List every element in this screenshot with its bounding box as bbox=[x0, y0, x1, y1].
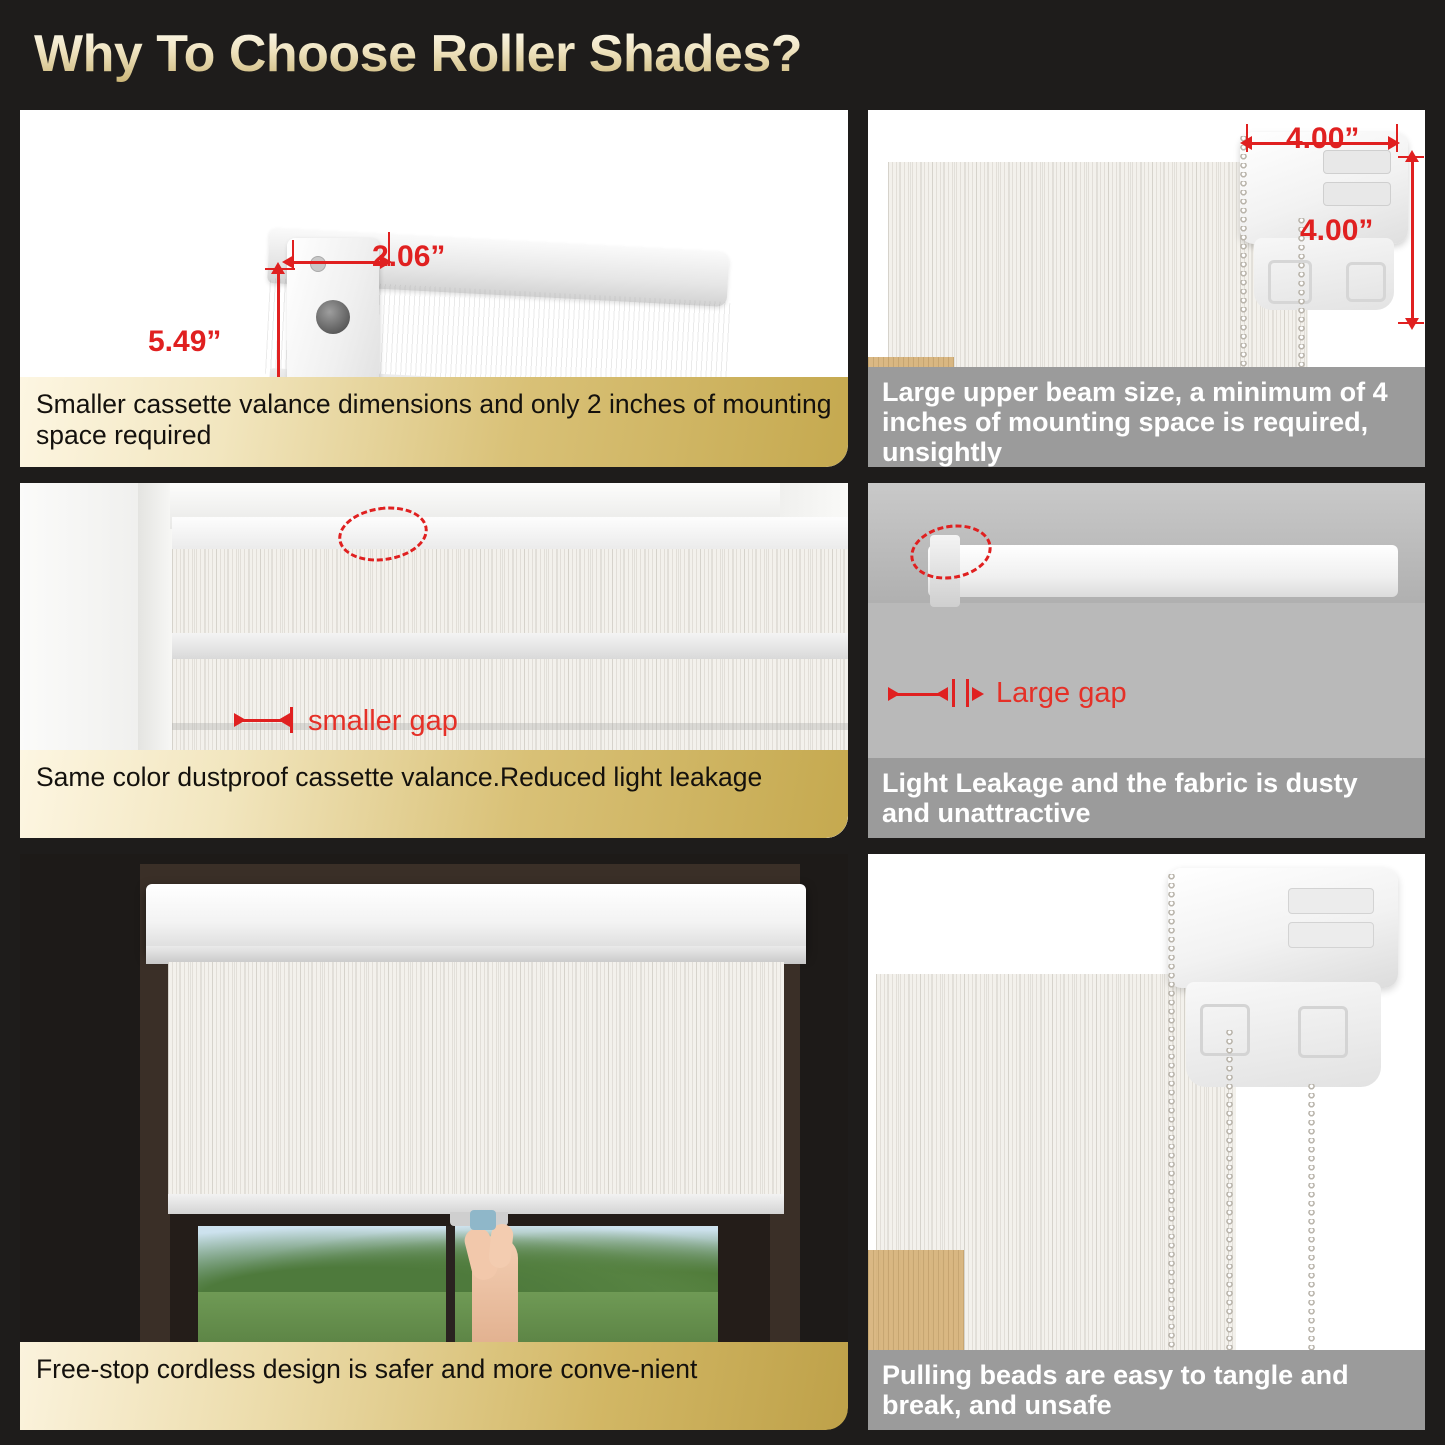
cell-bottom-right-photo bbox=[868, 854, 1425, 1430]
infographic-page: Why To Choose Roller Shades? bbox=[0, 0, 1445, 1445]
height-dimension-label: 5.49” bbox=[148, 325, 221, 359]
cell-top-right-caption: Large upper beam size, a minimum of 4 in… bbox=[868, 367, 1425, 467]
cell-bottom-right-caption: Pulling beads are easy to tangle and bre… bbox=[868, 1350, 1425, 1430]
gap-label: Large gap bbox=[996, 677, 1127, 710]
cell-top-left-caption: Smaller cassette valance dimensions and … bbox=[20, 377, 848, 467]
depth-dimension-label: 4.00” bbox=[1300, 214, 1373, 248]
cell-bottom-left: Free-stop cordless design is safer and m… bbox=[20, 854, 848, 1430]
gap-label: smaller gap bbox=[308, 705, 458, 738]
cell-mid-right: Large gap Light Leakage and the fabric i… bbox=[868, 483, 1425, 838]
cell-bottom-left-caption: Free-stop cordless design is safer and m… bbox=[20, 1342, 848, 1430]
width-dimension-label: 2.06” bbox=[372, 240, 445, 274]
comparison-grid: 2.06” 5.49” Smaller cassette valance dim… bbox=[20, 110, 1425, 1430]
width-dimension-label: 4.00” bbox=[1286, 122, 1359, 156]
cell-top-left: 2.06” 5.49” Smaller cassette valance dim… bbox=[20, 110, 848, 467]
page-title: Why To Choose Roller Shades? bbox=[34, 24, 802, 84]
cell-mid-left-caption: Same color dustproof cassette valance.Re… bbox=[20, 750, 848, 838]
bead-chain-left bbox=[1168, 874, 1175, 1430]
cell-mid-left: smaller gap Same color dustproof cassett… bbox=[20, 483, 848, 838]
cell-bottom-right: Pulling beads are easy to tangle and bre… bbox=[868, 854, 1425, 1430]
cell-mid-right-caption: Light Leakage and the fabric is dusty an… bbox=[868, 758, 1425, 838]
cell-top-right: 4.00” 4.00” Large upper beam size, a min… bbox=[868, 110, 1425, 467]
